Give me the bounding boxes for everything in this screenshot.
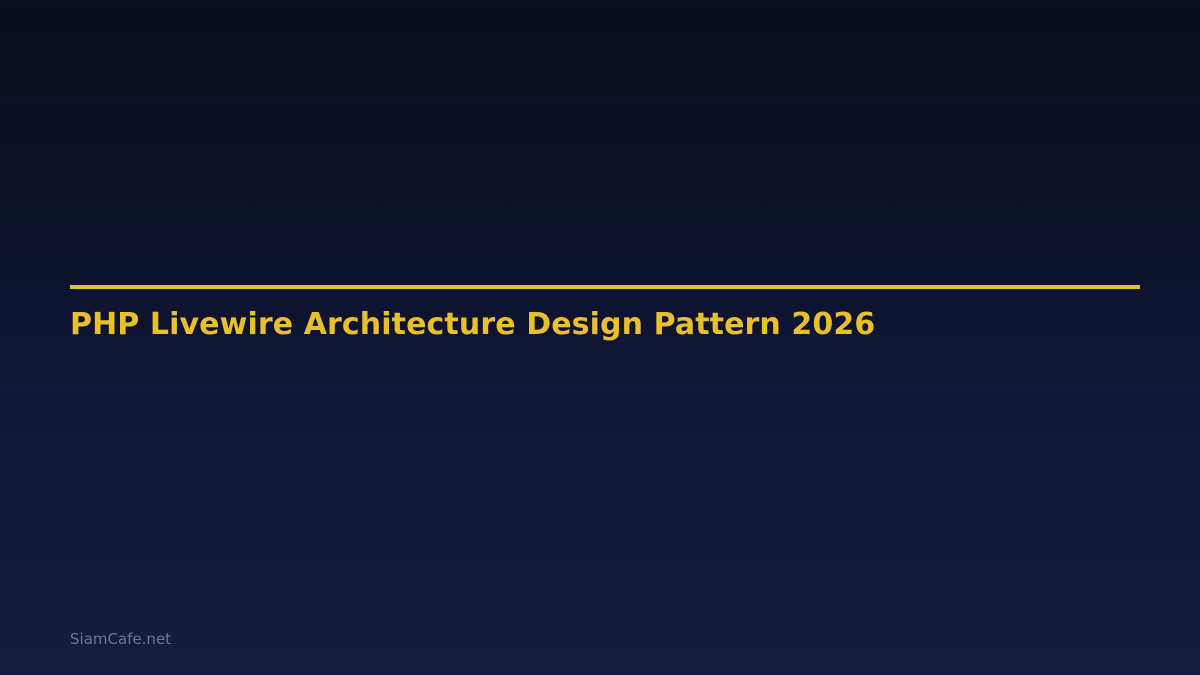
footer: SiamCafe.net [70, 629, 171, 649]
title-block: PHP Livewire Architecture Design Pattern… [70, 285, 1140, 343]
footer-brand-label: SiamCafe.net [70, 630, 171, 648]
page-title: PHP Livewire Architecture Design Pattern… [70, 289, 1140, 343]
title-slide: PHP Livewire Architecture Design Pattern… [0, 0, 1200, 675]
